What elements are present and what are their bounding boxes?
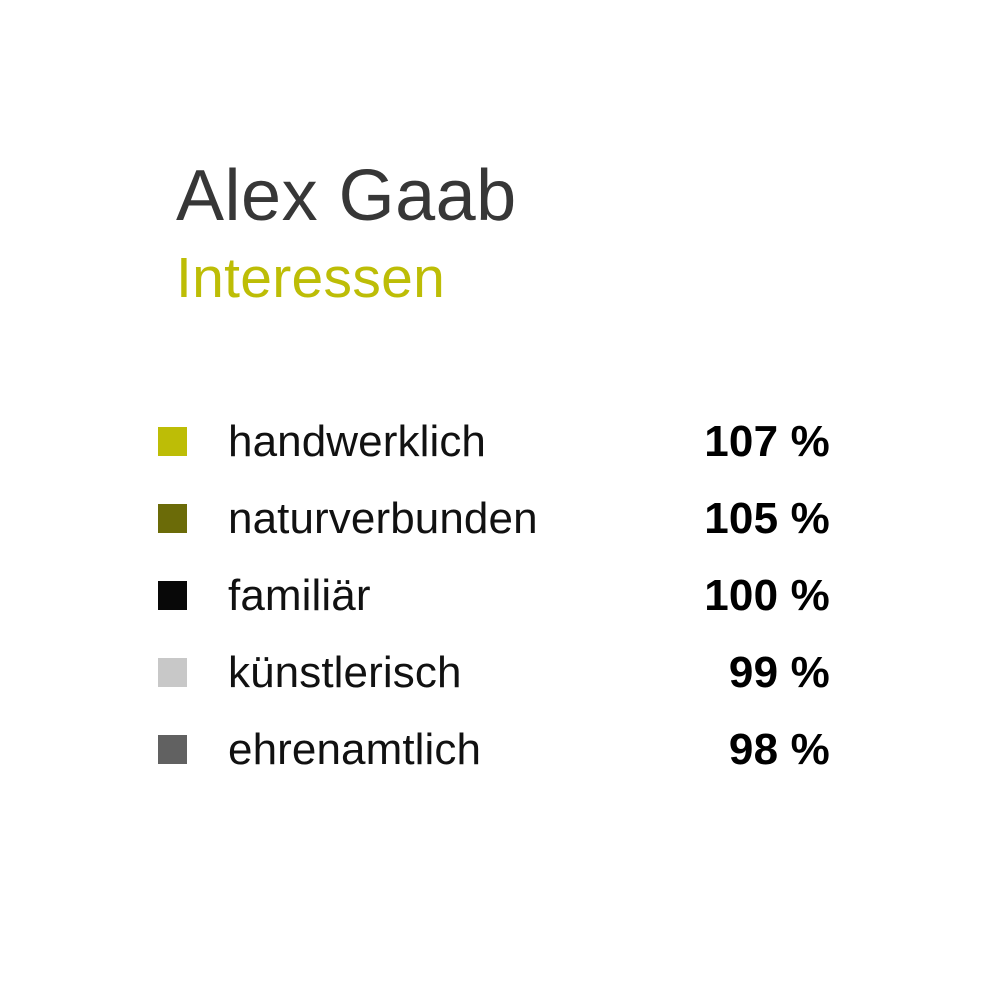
interests-card: Alex Gaab Interessen handwerklich 107 % … [0, 0, 1000, 1000]
list-item-label: ehrenamtlich [228, 728, 729, 772]
list-item-value: 105 % [704, 497, 830, 541]
color-swatch-icon [158, 581, 187, 610]
color-swatch-icon [158, 504, 187, 533]
list-item-label: familiär [228, 574, 704, 618]
list-item-value: 100 % [704, 574, 830, 618]
card-header: Alex Gaab Interessen [176, 160, 876, 307]
list-item: naturverbunden 105 % [158, 480, 830, 557]
list-item: ehrenamtlich 98 % [158, 711, 830, 788]
list-item-value: 107 % [704, 420, 830, 464]
list-item-label: handwerklich [228, 420, 704, 464]
interests-legend-list: handwerklich 107 % naturverbunden 105 % … [158, 403, 830, 788]
list-item: künstlerisch 99 % [158, 634, 830, 711]
list-item-label: naturverbunden [228, 497, 704, 541]
list-item: handwerklich 107 % [158, 403, 830, 480]
list-item-value: 99 % [729, 651, 830, 695]
list-item-value: 98 % [729, 728, 830, 772]
color-swatch-icon [158, 735, 187, 764]
color-swatch-icon [158, 658, 187, 687]
list-item-label: künstlerisch [228, 651, 729, 695]
page-title: Alex Gaab [176, 160, 876, 232]
section-subtitle: Interessen [176, 250, 876, 307]
list-item: familiär 100 % [158, 557, 830, 634]
color-swatch-icon [158, 427, 187, 456]
